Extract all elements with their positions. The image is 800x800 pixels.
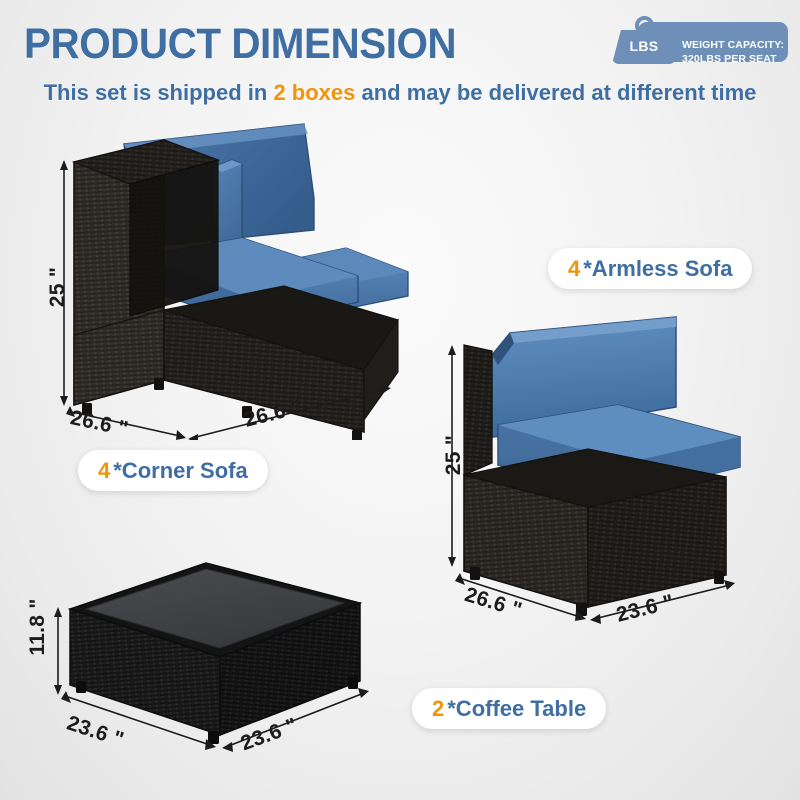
armless-sofa-illustration <box>440 295 790 640</box>
subtitle: This set is shipped in 2 boxes and may b… <box>0 80 800 106</box>
corner-sofa-illustration <box>46 120 421 440</box>
coffee-table-illustration <box>18 545 408 790</box>
weight-capacity-badge: LBS WEIGHT CAPACITY: 320LBS PER SEAT <box>612 16 788 64</box>
corner-sofa-label-pill: 4 *Corner Sofa <box>78 450 268 491</box>
subtitle-highlight: 2 boxes <box>273 80 355 105</box>
armless-sofa-figure: 25 " 26.6 " 23.6 " <box>440 295 790 640</box>
coffee-table-label-pill: 2 *Coffee Table <box>412 688 606 729</box>
header: PRODUCT DIMENSION LBS WEIGHT CAPACITY: 3… <box>0 0 800 118</box>
coffee-table-figure: 11.8 " 23.6 " 23.6 " <box>18 545 408 790</box>
weight-icon-label: LBS <box>612 38 676 54</box>
armless-sofa-height-label: 25 " <box>442 419 466 491</box>
corner-sofa-name: *Corner Sofa <box>113 458 247 484</box>
armless-sofa-name: *Armless Sofa <box>583 256 732 282</box>
corner-sofa-height-label: 25 " <box>46 251 70 323</box>
coffee-table-height-label: 11.8 " <box>26 585 50 669</box>
subtitle-after: and may be delivered at different time <box>355 80 756 105</box>
corner-sofa-quantity: 4 <box>98 458 110 484</box>
armless-sofa-label-pill: 4 *Armless Sofa <box>548 248 752 289</box>
corner-sofa-figure: 25 " 26.6 " 26.6 " <box>46 120 421 440</box>
weight-capacity-line1: WEIGHT CAPACITY: <box>682 39 784 51</box>
subtitle-before: This set is shipped in <box>44 80 274 105</box>
weight-capacity-line2: 320LBS PER SEAT <box>682 53 777 65</box>
coffee-table-name: *Coffee Table <box>447 696 586 722</box>
coffee-table-quantity: 2 <box>432 696 444 722</box>
page-title: PRODUCT DIMENSION <box>24 20 456 69</box>
armless-sofa-quantity: 4 <box>568 256 580 282</box>
